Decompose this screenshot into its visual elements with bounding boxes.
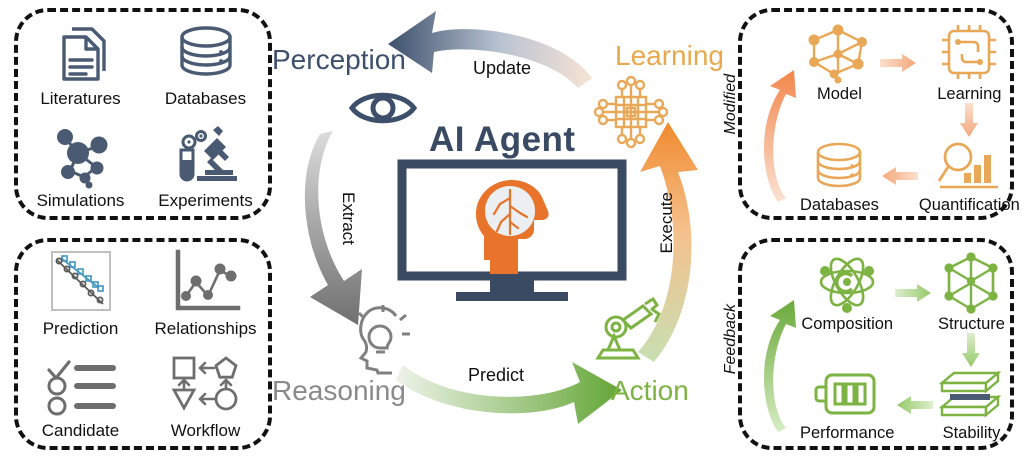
node-label-reasoning: Reasoning xyxy=(272,375,406,407)
diagram-canvas: Literatures Databases xyxy=(0,0,1024,461)
arrow-label-predict: Predict xyxy=(468,365,524,386)
node-label-action: Action xyxy=(611,375,689,407)
arrow-label-extract: Extract xyxy=(338,192,358,245)
page-title: AI Agent xyxy=(429,120,576,160)
node-label-perception: Perception xyxy=(272,44,406,76)
lightbulb-head-icon xyxy=(350,300,416,374)
chip-icon xyxy=(594,76,668,148)
eye-icon xyxy=(348,85,418,131)
arrow-label-update: Update xyxy=(473,58,531,79)
arrow-label-execute: Execute xyxy=(657,192,677,253)
node-label-learning: Learning xyxy=(615,40,724,72)
monitor-brain-head-icon xyxy=(398,160,626,305)
